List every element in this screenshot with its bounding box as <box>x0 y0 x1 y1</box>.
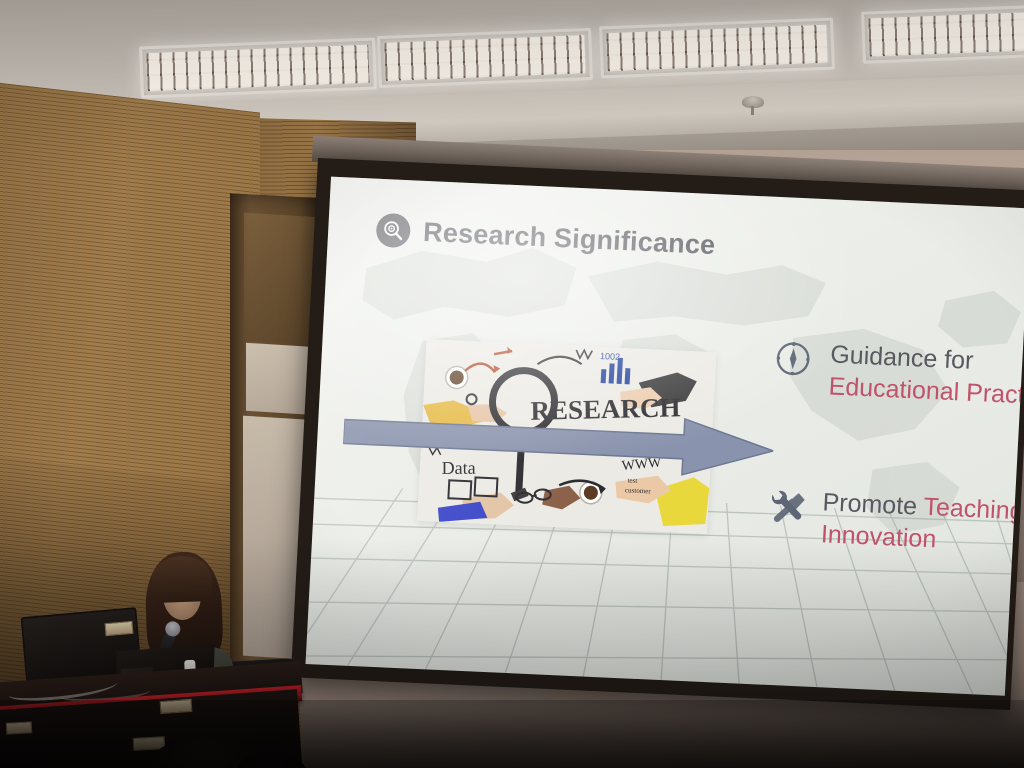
svg-text:test: test <box>627 476 637 484</box>
bullet-innovation-prefix: Promote <box>822 488 924 521</box>
ceiling-light-icon <box>139 37 377 98</box>
bullet-innovation: Promote Teaching Innovation <box>764 485 1024 560</box>
light-louver <box>384 35 585 81</box>
compass-icon <box>773 339 813 379</box>
light-louver <box>606 25 827 71</box>
light-louver <box>868 12 1024 57</box>
equipment-label <box>160 699 193 714</box>
magnifier-glyph <box>382 219 405 242</box>
equipment-label <box>6 721 33 734</box>
sprinkler-icon <box>742 96 764 108</box>
svg-text:customer: customer <box>625 486 652 495</box>
bullet-innovation-accent: Teaching <box>923 493 1024 526</box>
bullet-innovation-text: Promote Teaching Innovation <box>820 487 1024 559</box>
bullet-guidance: Guidance for Educational Practice <box>772 337 1024 413</box>
presentation-room-photo: Research Significance <box>0 0 1024 768</box>
ceiling-light-icon <box>377 28 593 88</box>
slide-content: Research Significance <box>306 177 1024 696</box>
light-louver <box>146 45 369 91</box>
wrench-screwdriver-icon <box>765 487 805 527</box>
projection-screen: Research Significance <box>291 158 1024 710</box>
ceiling-light-icon <box>599 18 835 79</box>
svg-text:1002: 1002 <box>600 351 621 362</box>
magnifier-target-icon <box>375 213 411 248</box>
presenter-hair-top <box>151 555 213 603</box>
ceiling-light-icon <box>861 4 1024 63</box>
bullet-guidance-text: Guidance for Educational Practice <box>828 339 1024 412</box>
equipment-label <box>104 621 133 636</box>
